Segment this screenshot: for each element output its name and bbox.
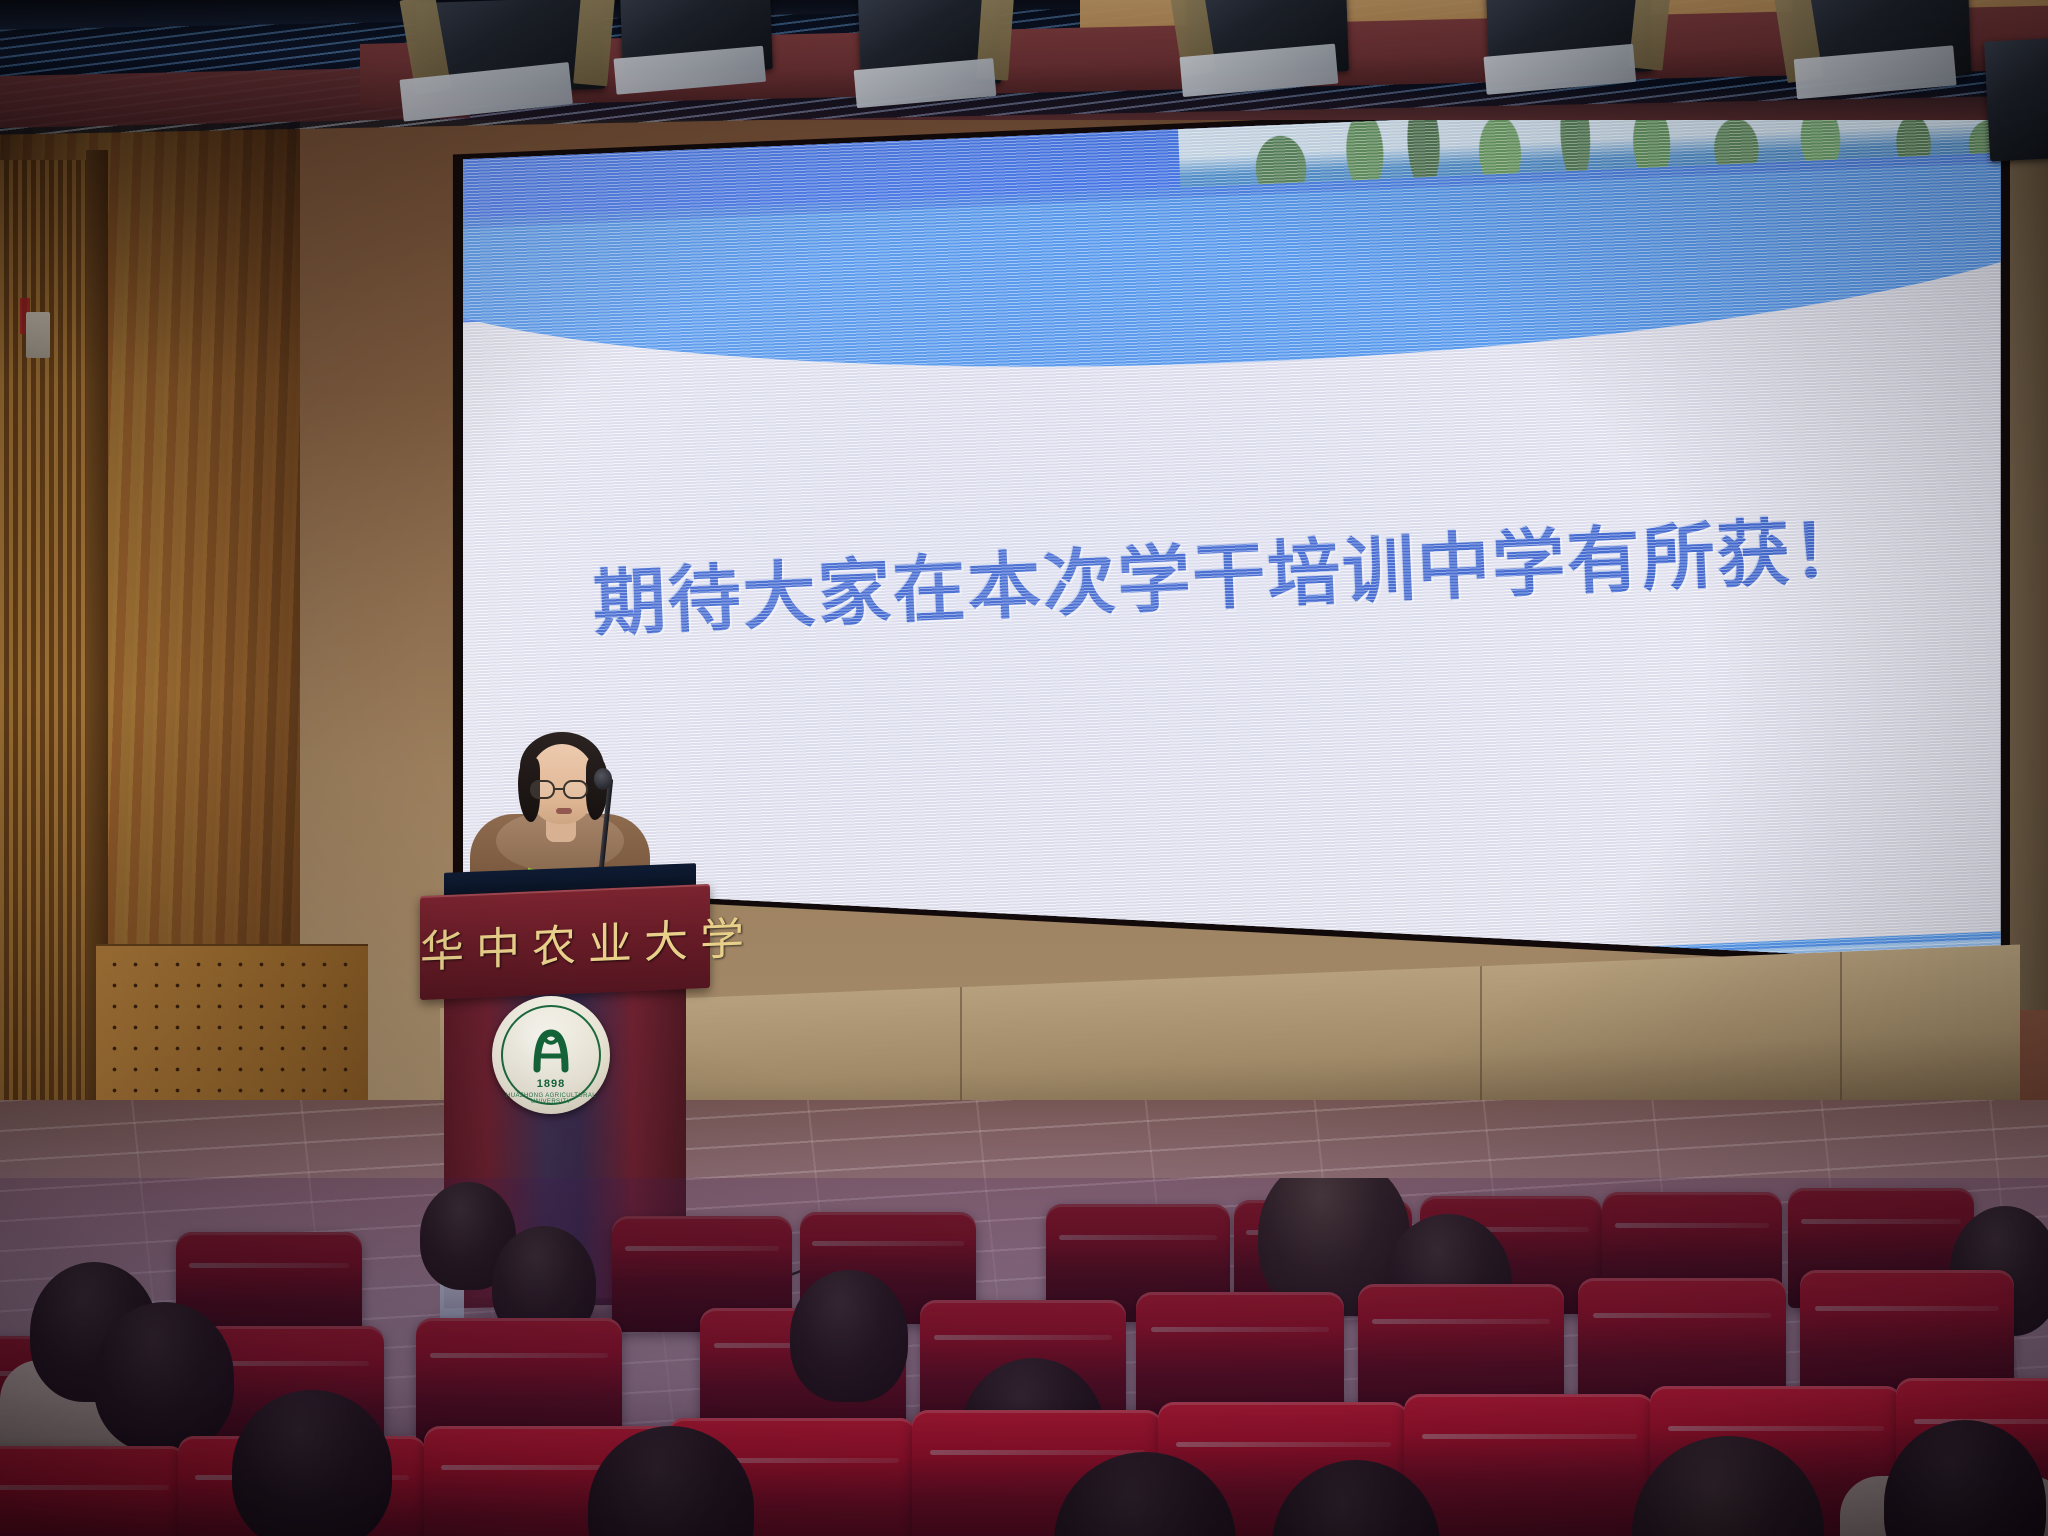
spotlight-6	[1792, 0, 1971, 81]
lectern-nameplate-text: 华中农业大学	[420, 904, 710, 980]
eyeglasses-bridge	[555, 788, 563, 790]
audience-head	[790, 1270, 908, 1402]
auditorium-scene: 期待大家在本次学干培训中学有所获！ 水产学院 COLLEGE OF FISHER…	[0, 0, 2048, 1536]
slide-headline: 期待大家在本次学干培训中学有所获！	[465, 485, 1994, 656]
eyeglasses-right-lens	[563, 780, 588, 799]
eyeglasses-left-lens	[530, 780, 555, 799]
microphone-icon	[594, 768, 612, 790]
lectern-nameplate: 华中农业大学	[420, 884, 710, 1000]
emblem-glyph-icon	[515, 1015, 587, 1087]
lectern-emblem: 1898 HUAZHONG AGRICULTURAL UNIVERSITY	[492, 996, 610, 1114]
spotlight-3	[858, 0, 1001, 88]
emblem-english: HUAZHONG AGRICULTURAL UNIVERSITY	[492, 1093, 610, 1105]
spotlight-2	[620, 0, 773, 75]
presenter-mouth	[556, 808, 572, 814]
audience-head	[94, 1302, 234, 1452]
spotlight-7	[1984, 38, 2048, 161]
ceiling-beam-left	[0, 66, 470, 128]
spotlight-5	[1486, 0, 1653, 77]
emblem-year: 1898	[492, 1078, 610, 1090]
seat[interactable]	[1404, 1394, 1654, 1536]
seat[interactable]	[0, 1446, 186, 1536]
audience-head	[232, 1390, 392, 1536]
spotlight-4	[1186, 0, 1349, 77]
spotlight-1	[416, 0, 605, 95]
audience-seating	[0, 1178, 2048, 1536]
